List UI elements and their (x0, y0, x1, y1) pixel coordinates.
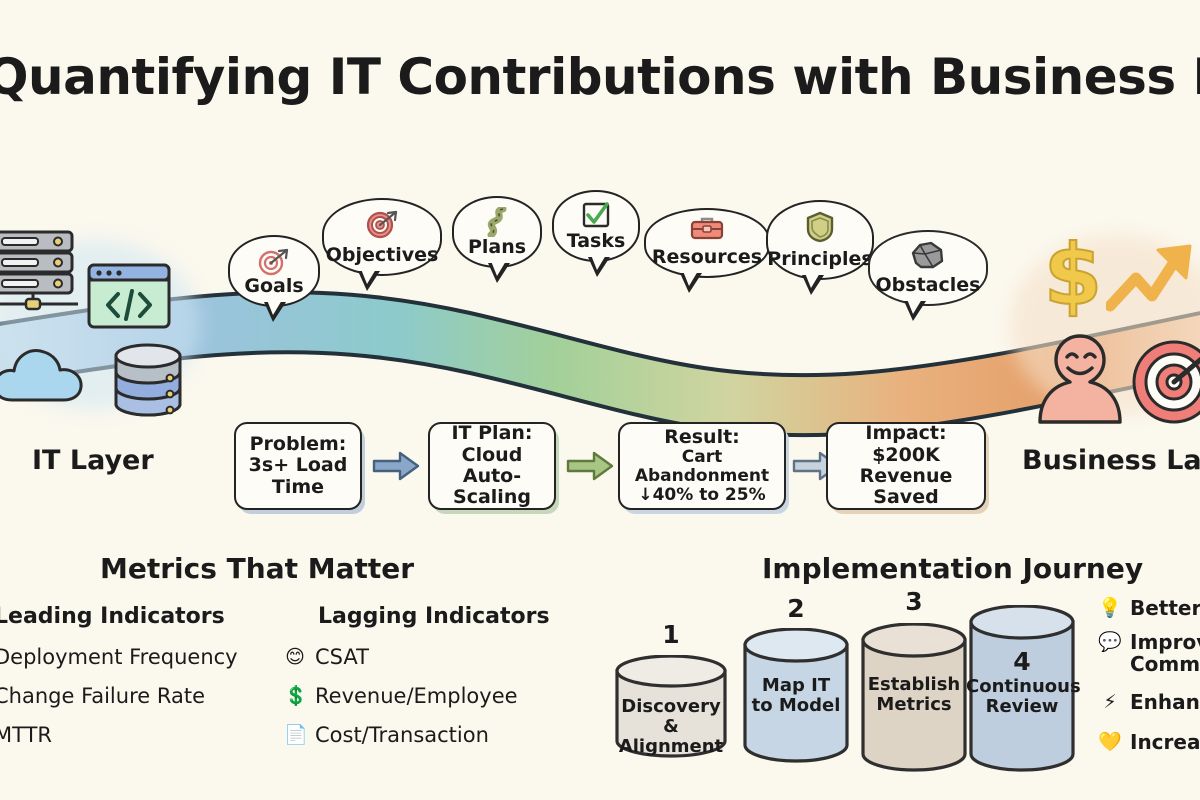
flow-step-line: ↓40% to 25% (626, 486, 778, 505)
journey-step-number: 4 (1013, 647, 1030, 676)
bmm-bubble-goals[interactable]: Goals (228, 235, 320, 307)
database-icon (108, 340, 188, 424)
winding-road-icon (481, 207, 513, 237)
lightbulb-icon: 💡 (1098, 598, 1122, 619)
journey-step-label: Discovery & Alignment (612, 697, 730, 756)
bmm-bubble-label: Obstacles (876, 274, 981, 296)
shield-icon (805, 211, 835, 243)
benefit-item-better-decisions: 💡 Better D (1098, 598, 1200, 620)
flow-step-line: Saved (834, 487, 978, 508)
journey-step-1[interactable]: 1 Discovery & Alignment (612, 655, 730, 765)
benefit-line: Improve (1130, 630, 1200, 654)
bmm-bubble-principles[interactable]: Principles (766, 200, 874, 280)
happy-person-icon (1034, 330, 1126, 426)
bmm-bubble-obstacles[interactable]: Obstacles (868, 230, 988, 306)
growth-arrow-icon (1106, 238, 1200, 318)
lagging-indicator-item: 📄 Cost/Transaction (284, 723, 489, 747)
lagging-indicators-heading: Lagging Indicators (318, 604, 550, 629)
flow-step-line: $200K Revenue (834, 445, 978, 488)
code-window-icon (86, 262, 172, 330)
journey-step-4[interactable]: 4 Continuous Review (966, 605, 1078, 775)
journey-step-line: Alignment (619, 736, 723, 757)
journey-step-line: Continuous (966, 676, 1081, 697)
benefit-item-improved-communication: 💬 Improve Commun (1098, 632, 1200, 675)
benefit-label: Improve Commun (1130, 632, 1200, 675)
page-title: Quantifying IT Contributions with Busine… (0, 52, 1200, 102)
bmm-bubble-label: Resources (652, 246, 762, 268)
flow-step-line: Scaling (436, 487, 548, 508)
heart-icon: 💛 (1098, 732, 1122, 753)
it-layer-label: IT Layer (32, 445, 154, 476)
flow-step-line: 3s+ Load (249, 455, 348, 476)
benefit-item-increased: 💛 Increase (1098, 732, 1200, 754)
bmm-bubble-objectives[interactable]: Objectives (322, 198, 442, 276)
metric-label: Deployment Frequency (0, 645, 238, 669)
journey-step-3[interactable]: 3 Establish Metrics (858, 623, 970, 775)
flow-step-line: Time (249, 477, 348, 498)
journey-step-line: Discovery & (621, 696, 720, 737)
lagging-indicator-item: 😊 CSAT (284, 645, 369, 669)
benefit-line: Commun (1130, 652, 1200, 676)
journey-step-line: Metrics (876, 694, 951, 715)
flow-step-problem[interactable]: Problem: 3s+ Load Time (234, 422, 362, 510)
bmm-bubble-label: Tasks (567, 230, 626, 252)
flow-step-line: Problem: (249, 434, 348, 455)
dollar-sign-icon: 💲 (284, 687, 306, 706)
metric-label: Change Failure Rate (0, 684, 205, 708)
journey-step-number: 3 (905, 587, 922, 616)
journey-step-line: to Model (752, 695, 841, 716)
metric-label: Revenue/Employee (315, 684, 518, 708)
infographic-canvas: Quantifying IT Contributions with Busine… (0, 0, 1200, 800)
leading-indicators-heading: Leading Indicators (0, 604, 225, 629)
target-arrow-icon (257, 246, 291, 276)
cloud-icon (0, 334, 90, 410)
leading-indicator-item: MTTR (0, 723, 52, 747)
benefit-label: Enhance (1130, 692, 1200, 714)
leading-indicator-item: Deployment Frequency (0, 645, 238, 669)
metric-label: MTTR (0, 723, 52, 747)
flow-step-result[interactable]: Result: Cart Abandonment ↓40% to 25% (618, 422, 786, 510)
bubble-tail (904, 301, 926, 321)
flow-step-line: IT Plan: (436, 423, 548, 444)
journey-step-label: Continuous Review (966, 677, 1078, 717)
benefit-label: Increase (1130, 732, 1200, 754)
lightning-bolt-icon: ⚡ (1098, 692, 1122, 713)
server-rack-icon (0, 228, 82, 314)
flow-step-line: Result: (626, 427, 778, 448)
flow-step-it-plan[interactable]: IT Plan: Cloud Auto- Scaling (428, 422, 556, 510)
svg-text:$: $ (1044, 232, 1102, 320)
bubble-tail (264, 302, 286, 322)
journey-step-number: 1 (662, 620, 679, 649)
rock-icon (911, 241, 945, 269)
arrow-plan-to-result (566, 450, 614, 482)
flow-step-impact[interactable]: Impact: $200K Revenue Saved (826, 422, 986, 510)
bmm-bubble-label: Plans (468, 236, 526, 258)
bmm-bubble-tasks[interactable]: Tasks (552, 190, 640, 262)
metric-label: CSAT (315, 645, 369, 669)
bmm-bubble-label: Objectives (326, 244, 439, 266)
flow-step-line: Impact: (834, 423, 978, 444)
journey-heading: Implementation Journey (762, 552, 1143, 585)
flow-step-line: Cloud Auto- (436, 445, 548, 488)
target-dart-icon (1130, 332, 1200, 428)
smiley-face-icon: 😊 (284, 648, 306, 667)
bmm-bubble-plans[interactable]: Plans (452, 196, 542, 268)
lagging-indicator-item: 💲 Revenue/Employee (284, 684, 518, 708)
checkbox-check-icon (581, 201, 611, 229)
journey-step-label: Map IT to Model (740, 676, 852, 716)
bubble-tail (488, 263, 510, 283)
document-icon: 📄 (284, 726, 306, 745)
benefit-item-enhanced: ⚡ Enhance (1098, 692, 1200, 714)
journey-step-label: Establish Metrics (858, 675, 970, 715)
bubble-tail (802, 275, 824, 295)
journey-step-number: 2 (787, 594, 804, 623)
flow-step-line: Cart Abandonment (626, 448, 778, 486)
bmm-bubble-resources[interactable]: Resources (644, 208, 770, 278)
arrow-problem-to-plan (372, 450, 420, 482)
bubble-tail (680, 273, 702, 293)
metric-label: Cost/Transaction (315, 723, 489, 747)
journey-step-line: Map IT (762, 675, 830, 696)
dartboard-icon (365, 209, 399, 239)
bubble-tail (588, 257, 610, 277)
leading-indicator-item: Change Failure Rate (0, 684, 205, 708)
bubble-tail (358, 271, 380, 291)
speech-bubble-icon: 💬 (1098, 632, 1122, 653)
bmm-bubble-label: Goals (244, 275, 303, 297)
benefit-label: Better D (1130, 598, 1200, 620)
metrics-heading: Metrics That Matter (100, 552, 414, 585)
journey-step-line: Review (986, 696, 1059, 717)
toolbox-icon (689, 216, 725, 242)
journey-step-2[interactable]: 2 Map IT to Model (740, 628, 852, 766)
bmm-bubble-label: Principles (767, 248, 872, 270)
journey-step-line: Establish (868, 674, 961, 695)
dollar-sign-icon: $ (1038, 232, 1108, 320)
business-layer-label: Business Layer (1022, 445, 1200, 476)
